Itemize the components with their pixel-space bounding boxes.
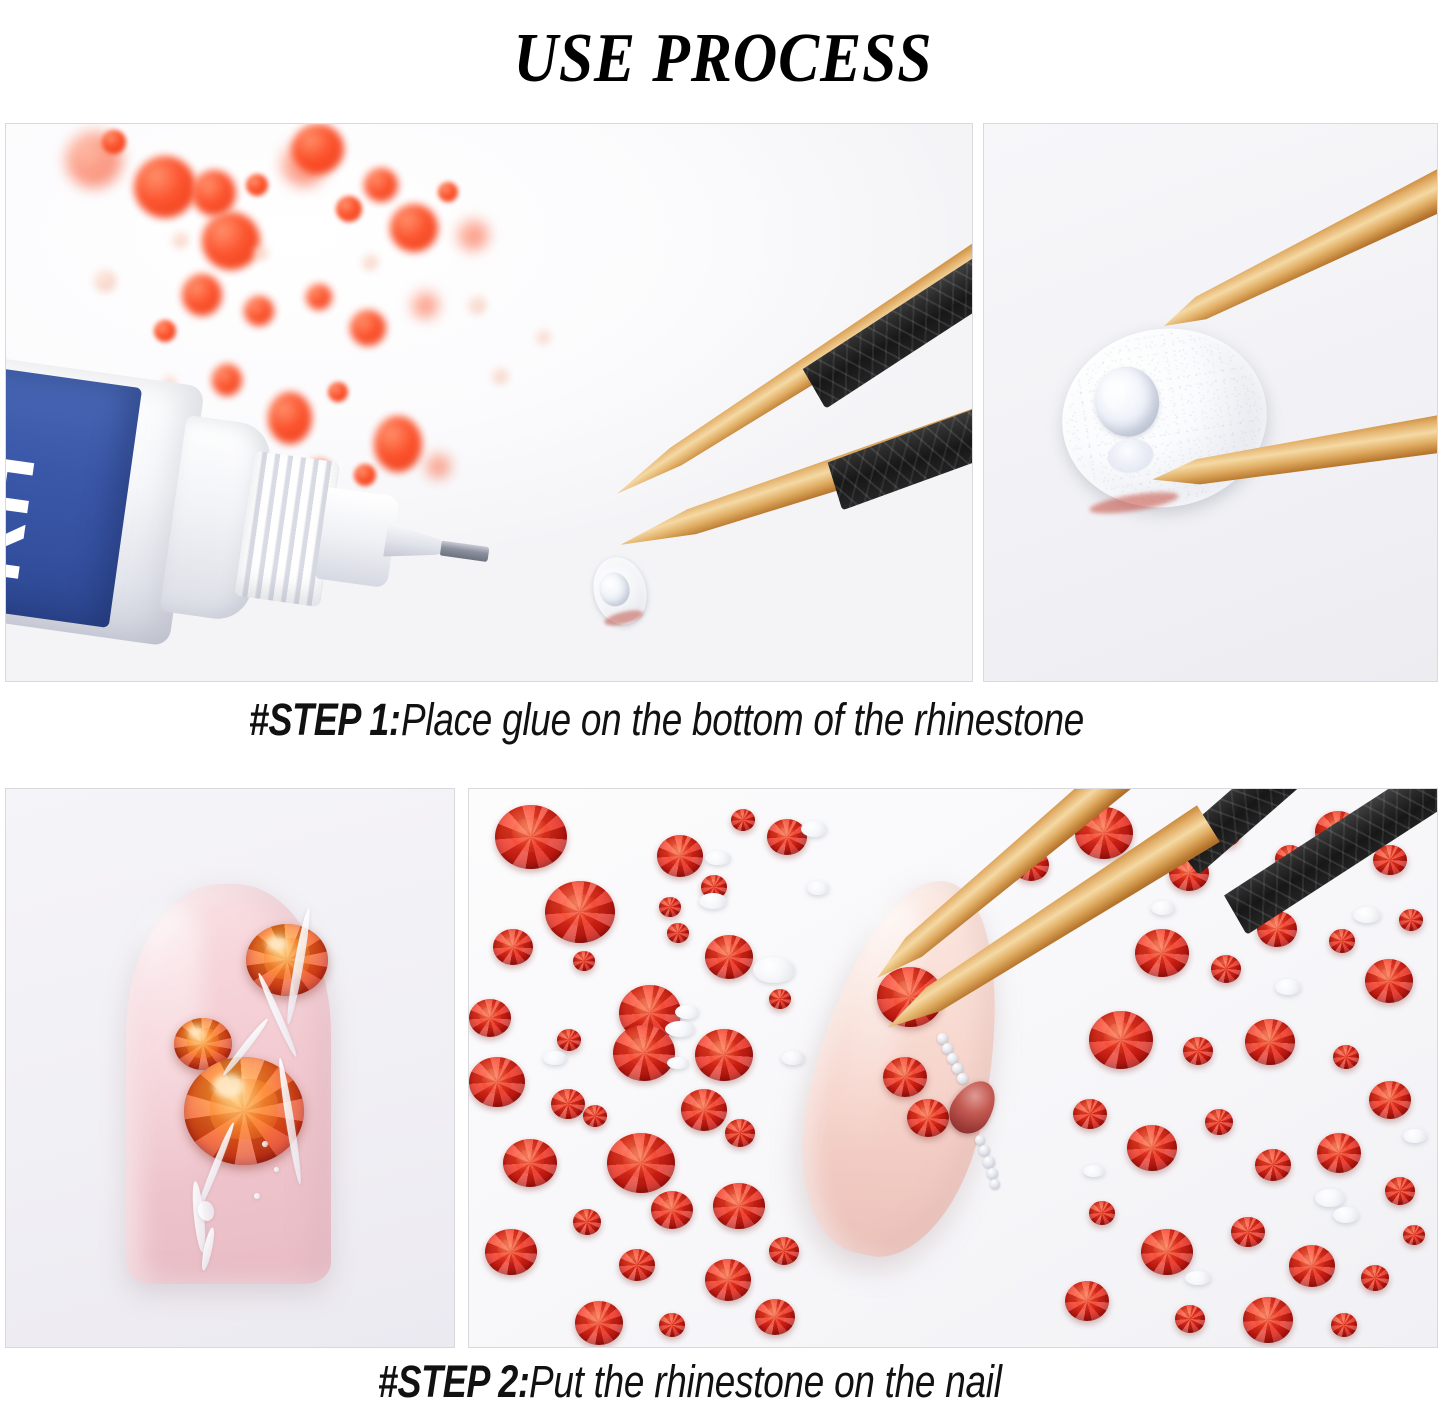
page-title: USE PROCESS	[513, 24, 932, 94]
rhinestone-glue-bottle: RH	[6, 324, 337, 681]
gem-top-large	[246, 924, 328, 996]
rhinestone-on-nail-mid	[883, 1057, 927, 1097]
gem-sparkle	[188, 1026, 203, 1037]
rhinestone-on-nail-low	[907, 1099, 949, 1137]
gem-sparkle	[266, 936, 287, 952]
photo-canvas-step2-right	[469, 789, 1437, 1347]
step-1-caption: #STEP 1: Place glue on the bottom of the…	[0, 694, 1445, 746]
gem-sparkle	[213, 1074, 244, 1098]
step-2-text: Put the rhinestone on the nail	[529, 1356, 1002, 1408]
photo-canvas-step1-right	[984, 124, 1437, 681]
tweezers-holding-rhinestone-photo	[983, 123, 1438, 682]
page-header: USE PROCESS	[0, 0, 1445, 118]
step-1-label: #STEP 1:	[249, 694, 401, 746]
glue-application-photo: RH	[5, 123, 973, 682]
rhinestone-foil-texture	[1054, 319, 1275, 518]
rhinestone-with-glue-drop	[1049, 314, 1279, 522]
finished-nail-photo	[5, 788, 455, 1348]
step-1-text: Place glue on the bottom of the rhinesto…	[401, 694, 1084, 746]
photo-canvas-step1-left: RH	[6, 124, 972, 681]
glue-label-text-rh: RH	[6, 354, 74, 628]
step-2-label: #STEP 2:	[377, 1356, 529, 1408]
step-2-caption: #STEP 2: Put the rhinestone on the nail	[0, 1356, 1445, 1408]
placing-rhinestone-photo	[468, 788, 1438, 1348]
photo-canvas-step2-left	[6, 789, 454, 1347]
